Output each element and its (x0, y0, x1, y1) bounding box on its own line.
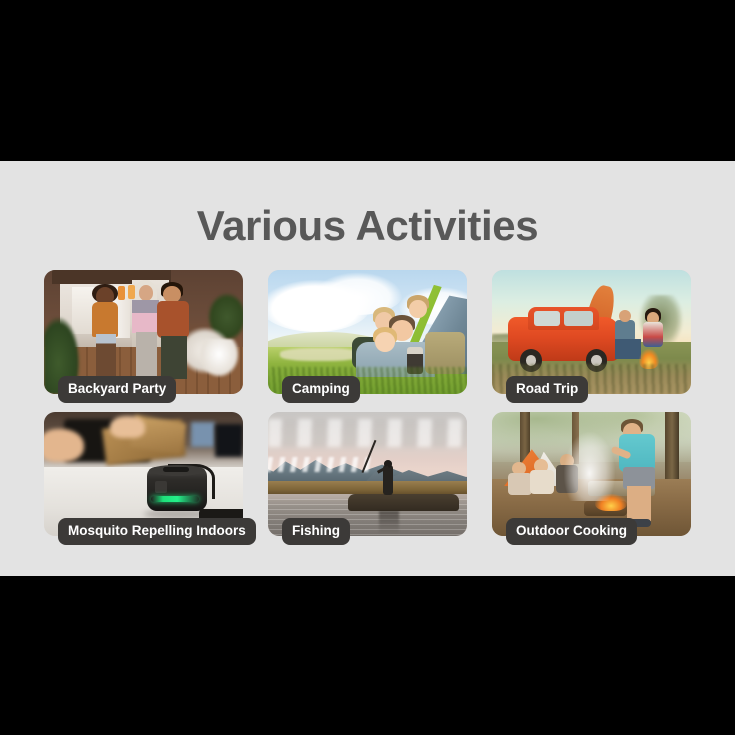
activity-label-road-trip: Road Trip (506, 376, 588, 403)
screenshot-canvas: Various Activities (0, 0, 735, 735)
device-led-indicator (151, 496, 199, 502)
activity-card-camping[interactable]: Camping (268, 270, 467, 394)
letterbox-top (0, 0, 735, 161)
activity-label-backyard-party: Backyard Party (58, 376, 176, 403)
activity-card-fishing[interactable]: Fishing (268, 412, 467, 536)
page-title: Various Activities (0, 202, 735, 250)
activity-label-mosquito-repelling-indoors: Mosquito Repelling Indoors (58, 518, 256, 545)
activity-label-outdoor-cooking: Outdoor Cooking (506, 518, 637, 545)
letterbox-bottom (0, 576, 735, 735)
activity-label-camping: Camping (282, 376, 360, 403)
activity-card-backyard-party[interactable]: Backyard Party (44, 270, 243, 394)
activities-section: Various Activities (0, 161, 735, 576)
activity-label-fishing: Fishing (282, 518, 350, 545)
activities-grid: Backyard Party (44, 270, 692, 536)
activity-card-road-trip[interactable]: Road Trip (492, 270, 691, 394)
activity-card-mosquito-repelling-indoors[interactable]: Mosquito Repelling Indoors (44, 412, 243, 536)
activity-card-outdoor-cooking[interactable]: Outdoor Cooking (492, 412, 691, 536)
